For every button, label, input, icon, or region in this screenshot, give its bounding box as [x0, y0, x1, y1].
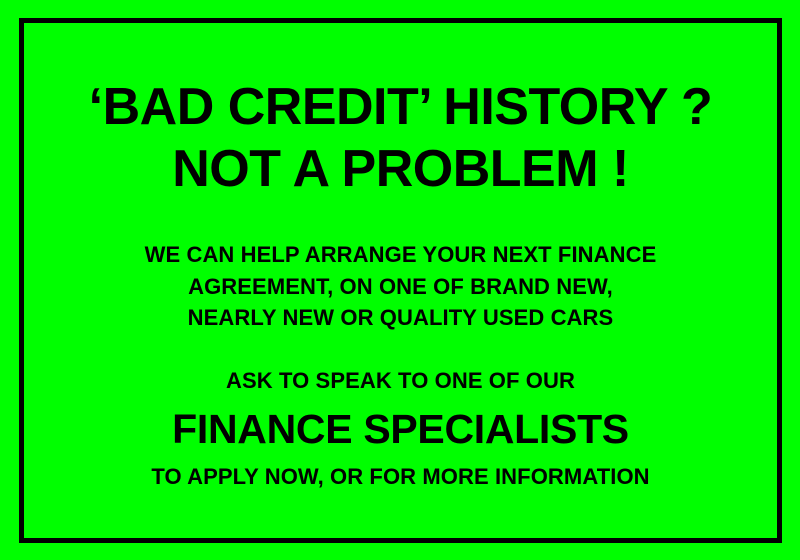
cta-tail-line: TO APPLY NOW, OR FOR MORE INFORMATION	[24, 463, 777, 492]
cta-headline: FINANCE SPECIALISTS	[24, 407, 777, 453]
headline-line-1: ‘BAD CREDIT’ HISTORY ?	[24, 79, 777, 135]
headline-block: ‘BAD CREDIT’ HISTORY ? NOT A PROBLEM !	[24, 79, 777, 197]
body-copy-line-2: AGREEMENT, ON ONE OF BRAND NEW,	[24, 271, 777, 302]
advertisement-poster: ‘BAD CREDIT’ HISTORY ? NOT A PROBLEM ! W…	[0, 0, 800, 560]
body-copy-line-1: WE CAN HELP ARRANGE YOUR NEXT FINANCE	[24, 239, 777, 270]
poster-content: ‘BAD CREDIT’ HISTORY ? NOT A PROBLEM ! W…	[24, 23, 777, 538]
cta-lead-line: ASK TO SPEAK TO ONE OF OUR	[24, 367, 777, 396]
headline-line-2: NOT A PROBLEM !	[24, 141, 777, 197]
body-copy-block: WE CAN HELP ARRANGE YOUR NEXT FINANCE AG…	[24, 239, 777, 333]
body-copy-line-3: NEARLY NEW OR QUALITY USED CARS	[24, 302, 777, 333]
call-to-action-block: ASK TO SPEAK TO ONE OF OUR FINANCE SPECI…	[24, 367, 777, 491]
